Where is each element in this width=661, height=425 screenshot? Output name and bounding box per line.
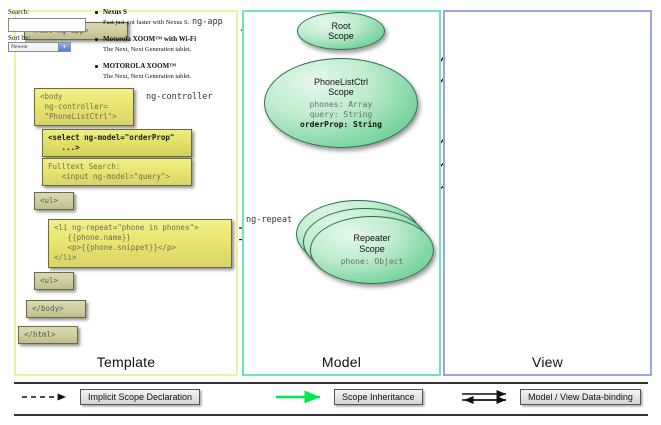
legend-divider-bottom [14, 414, 648, 416]
list-item[interactable]: Nexus S Fast just got faster with Nexus … [94, 8, 206, 26]
legend-label-data-binding: Model / View Data-binding [520, 389, 641, 405]
legend-item-data-binding: Model / View Data-binding [460, 389, 641, 405]
green-arrow-icon [274, 390, 328, 404]
legend-label-scope-inheritance: Scope Inheritance [334, 389, 423, 405]
legend-item-implicit-scope: Implicit Scope Declaration [20, 389, 200, 405]
label-ng-app: ng-app [192, 17, 223, 27]
phone-list: Nexus S Fast just got faster with Nexus … [94, 8, 206, 89]
legend: Implicit Scope Declaration Scope Inherit… [14, 382, 648, 416]
dashed-arrow-icon [20, 390, 74, 404]
angularjs-scope-diagram: Template <html ng-app> <body ng-controll… [0, 0, 661, 425]
phone-snippet: The Next, Next Generation tablet. [94, 73, 206, 80]
phone-snippet: The Next, Next Generation tablet. [94, 46, 206, 53]
legend-label-implicit-scope: Implicit Scope Declaration [80, 389, 200, 405]
phone-snippet: Fast just got faster with Nexus S. [94, 19, 206, 26]
label-ng-controller: ng-controller [146, 92, 213, 102]
chevron-down-icon[interactable]: ▾ [58, 43, 70, 51]
list-item[interactable]: MOTOROLA XOOM™ The Next, Next Generation… [94, 62, 206, 80]
phone-name[interactable]: Nexus S [94, 8, 206, 16]
legend-divider-top [14, 382, 648, 384]
search-input[interactable] [8, 18, 86, 32]
sort-select[interactable]: Newest ▾ [8, 42, 71, 52]
legend-item-scope-inheritance: Scope Inheritance [274, 389, 423, 405]
list-item[interactable]: Motorola XOOM™ with Wi-Fi The Next, Next… [94, 35, 206, 53]
view-mock: Search: Sort by: Newest ▾ Nexus S Fast j… [8, 8, 655, 399]
label-ng-repeat: ng-repeat [246, 215, 292, 225]
phone-name[interactable]: Motorola XOOM™ with Wi-Fi [94, 35, 206, 43]
phone-name[interactable]: MOTOROLA XOOM™ [94, 62, 206, 70]
sort-select-value: Newest [11, 44, 28, 50]
double-arrow-icon [460, 390, 514, 404]
